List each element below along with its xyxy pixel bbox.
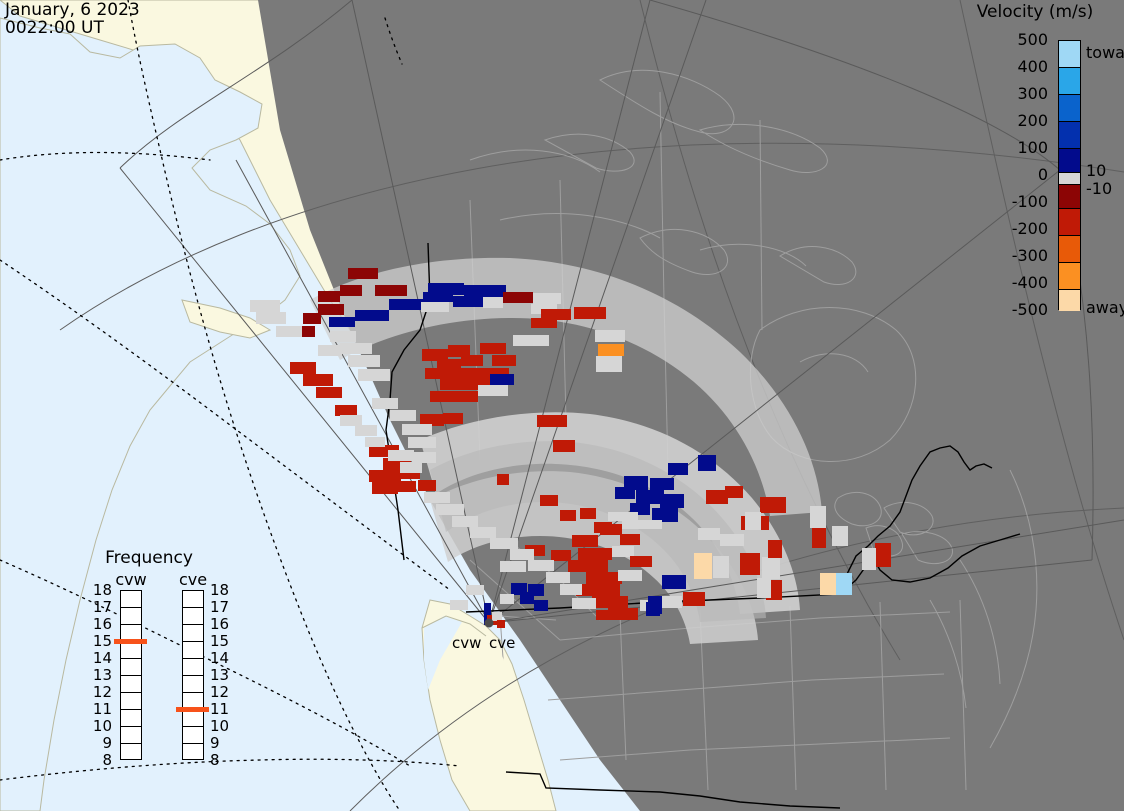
frequency-scale-cell bbox=[121, 727, 141, 744]
velocity-cell bbox=[762, 557, 780, 579]
velocity-cell bbox=[510, 549, 534, 560]
velocity-cell bbox=[365, 437, 385, 447]
velocity-cell bbox=[812, 528, 826, 548]
velocity-cell bbox=[745, 512, 761, 530]
velocity-cell bbox=[595, 330, 625, 342]
velocity-cell bbox=[560, 510, 576, 521]
velocity-cell bbox=[452, 516, 478, 527]
velocity-cell bbox=[650, 478, 674, 490]
velocity-cell bbox=[389, 299, 423, 310]
velocity-cell bbox=[396, 481, 416, 492]
frequency-tick-label: 12 bbox=[90, 685, 112, 700]
frequency-scale-cell bbox=[121, 744, 141, 761]
velocity-cell bbox=[250, 300, 280, 312]
velocity-cell bbox=[450, 600, 468, 610]
velocity-cell bbox=[592, 596, 628, 608]
velocity-cell bbox=[335, 405, 357, 416]
velocity-cell bbox=[608, 608, 638, 620]
velocity-cell bbox=[836, 573, 852, 595]
velocity-cell bbox=[490, 538, 518, 549]
velocity-cell bbox=[531, 318, 557, 328]
velocity-tick-label: -300 bbox=[1012, 248, 1048, 264]
velocity-cell bbox=[340, 415, 362, 426]
velocity-tick-label: -200 bbox=[1012, 221, 1048, 237]
frequency-scale-cell bbox=[121, 710, 141, 727]
velocity-colorbar-title: Velocity (m/s) bbox=[960, 2, 1110, 22]
velocity-cell bbox=[478, 385, 508, 396]
frequency-tick-label: 12 bbox=[210, 685, 232, 700]
velocity-cell bbox=[668, 463, 688, 475]
velocity-cell bbox=[546, 572, 570, 583]
velocity-cell bbox=[534, 600, 548, 611]
site-label-cve: cve bbox=[489, 634, 515, 652]
velocity-tick-label: 0 bbox=[1038, 167, 1048, 183]
frequency-tick-label: 10 bbox=[90, 719, 112, 734]
velocity-cell bbox=[698, 528, 720, 540]
velocity-cell bbox=[574, 307, 606, 319]
velocity-cell bbox=[256, 312, 286, 324]
velocity-cell bbox=[500, 561, 526, 572]
velocity-tick-label: 300 bbox=[1017, 86, 1048, 102]
velocity-colorbar bbox=[1058, 40, 1081, 310]
velocity-cell bbox=[348, 268, 378, 279]
frequency-tick-label: 11 bbox=[210, 702, 232, 717]
velocity-cell bbox=[553, 440, 575, 452]
velocity-colorbar-segment bbox=[1059, 41, 1080, 68]
velocity-tick-label: -100 bbox=[1012, 194, 1048, 210]
frequency-tick-label: 17 bbox=[210, 600, 232, 615]
velocity-cell bbox=[725, 486, 743, 498]
frequency-tick-label: 16 bbox=[210, 617, 232, 632]
velocity-cell bbox=[820, 573, 836, 595]
timestamp-time: 0022:00 UT bbox=[5, 19, 104, 37]
velocity-cell bbox=[340, 343, 372, 354]
frequency-scale-cell bbox=[183, 676, 203, 693]
frequency-scale-cell bbox=[121, 591, 141, 608]
frequency-tick-label: 16 bbox=[90, 617, 112, 632]
velocity-cell bbox=[620, 534, 640, 545]
frequency-scale-cell bbox=[183, 608, 203, 625]
velocity-colorbar-segment bbox=[1059, 185, 1080, 209]
velocity-cell bbox=[757, 578, 771, 598]
velocity-colorbar-segment bbox=[1059, 95, 1080, 122]
velocity-cell bbox=[421, 302, 449, 312]
velocity-cell bbox=[636, 490, 664, 504]
frequency-scale-cell bbox=[183, 591, 203, 608]
velocity-colorbar-segment bbox=[1059, 209, 1080, 236]
velocity-cell bbox=[596, 610, 610, 620]
velocity-cell bbox=[497, 620, 505, 628]
velocity-cell bbox=[464, 285, 506, 297]
velocity-cell bbox=[713, 556, 729, 578]
frequency-legend-title: Frequency bbox=[84, 548, 214, 568]
frequency-tick-label: 15 bbox=[90, 634, 112, 649]
velocity-cell bbox=[652, 508, 678, 522]
velocity-cell bbox=[466, 585, 484, 595]
velocity-cell bbox=[492, 612, 502, 621]
velocity-colorbar-segment bbox=[1059, 122, 1080, 149]
velocity-cell bbox=[303, 374, 333, 386]
velocity-cell bbox=[533, 293, 561, 304]
velocity-cell bbox=[551, 550, 571, 561]
frequency-column-header-cve: cve bbox=[173, 570, 213, 589]
frequency-scale-cell bbox=[121, 676, 141, 693]
frequency-scale-cell bbox=[183, 625, 203, 642]
velocity-tick-label: 400 bbox=[1017, 59, 1048, 75]
velocity-cell bbox=[660, 596, 682, 608]
frequency-scale-cell bbox=[121, 693, 141, 710]
frequency-scale-cell bbox=[183, 659, 203, 676]
velocity-cell bbox=[810, 506, 826, 528]
velocity-cell bbox=[596, 356, 622, 372]
velocity-cell bbox=[318, 304, 344, 315]
radar-site-marker bbox=[485, 619, 494, 628]
velocity-cell bbox=[329, 317, 355, 327]
velocity-cell bbox=[598, 344, 624, 356]
velocity-inner-positive-label: 10 bbox=[1086, 163, 1106, 179]
frequency-scale-cell bbox=[183, 710, 203, 727]
velocity-tick-label: -400 bbox=[1012, 275, 1048, 291]
velocity-cell bbox=[369, 470, 401, 482]
velocity-colorbar-segment bbox=[1059, 149, 1080, 173]
velocity-cell bbox=[290, 362, 316, 374]
velocity-cell bbox=[430, 391, 478, 402]
velocity-cell bbox=[608, 512, 638, 521]
velocity-cell bbox=[372, 398, 398, 409]
velocity-cell bbox=[276, 326, 302, 337]
velocity-cell bbox=[470, 527, 496, 538]
velocity-cell bbox=[500, 594, 514, 604]
velocity-cell bbox=[698, 455, 716, 471]
frequency-tick-label: 14 bbox=[210, 651, 232, 666]
velocity-cell bbox=[418, 480, 436, 491]
velocity-cell bbox=[580, 508, 596, 519]
frequency-scale-cell bbox=[121, 608, 141, 625]
velocity-cell bbox=[537, 415, 567, 427]
velocity-cell bbox=[612, 546, 634, 557]
site-label-cvw: cvw bbox=[452, 634, 481, 652]
velocity-tick-label: -500 bbox=[1012, 302, 1048, 318]
velocity-cell bbox=[513, 335, 549, 346]
velocity-cell bbox=[615, 487, 635, 499]
velocity-cell bbox=[436, 504, 464, 515]
velocity-away-label: away bbox=[1086, 300, 1124, 316]
velocity-cell bbox=[408, 437, 436, 448]
frequency-scale-cell bbox=[183, 642, 203, 659]
velocity-colorbar-segment bbox=[1059, 290, 1080, 311]
velocity-tick-label: 100 bbox=[1017, 140, 1048, 156]
velocity-colorbar-segment bbox=[1059, 236, 1080, 263]
velocity-cell bbox=[832, 526, 848, 546]
frequency-tick-label: 9 bbox=[90, 736, 112, 751]
velocity-cell bbox=[483, 297, 503, 308]
velocity-cell bbox=[528, 560, 554, 571]
velocity-colorbar-segment bbox=[1059, 173, 1080, 185]
velocity-cell bbox=[388, 450, 414, 461]
velocity-cell bbox=[572, 535, 598, 547]
velocity-cell bbox=[355, 310, 389, 321]
velocity-cell bbox=[372, 482, 398, 494]
frequency-tick-label: 18 bbox=[210, 583, 232, 598]
velocity-cell bbox=[503, 292, 533, 303]
velocity-cell bbox=[706, 490, 728, 504]
velocity-cell bbox=[425, 368, 469, 379]
frequency-tick-label: 18 bbox=[90, 583, 112, 598]
velocity-cell bbox=[461, 355, 483, 366]
velocity-cell bbox=[618, 570, 642, 581]
velocity-tick-label: 200 bbox=[1017, 113, 1048, 129]
velocity-cell bbox=[428, 283, 464, 295]
frequency-legend-panel: Frequency cvw18171615141312111098cve1817… bbox=[84, 548, 244, 798]
velocity-cell bbox=[630, 556, 652, 567]
velocity-cell bbox=[720, 534, 744, 546]
velocity-cell bbox=[646, 602, 660, 616]
frequency-tick-label: 9 bbox=[210, 736, 232, 751]
velocity-cell bbox=[497, 474, 509, 485]
velocity-cell bbox=[318, 291, 340, 302]
velocity-cell bbox=[303, 313, 321, 324]
velocity-cell bbox=[400, 462, 422, 473]
velocity-colorbar-segment bbox=[1059, 263, 1080, 290]
velocity-cell bbox=[622, 520, 662, 529]
velocity-cell bbox=[560, 584, 582, 595]
velocity-cell bbox=[875, 543, 891, 567]
velocity-cell bbox=[572, 598, 596, 609]
frequency-tick-label: 13 bbox=[210, 668, 232, 683]
velocity-cell bbox=[340, 285, 362, 296]
velocity-cell bbox=[740, 553, 760, 575]
velocity-cell bbox=[576, 584, 620, 596]
velocity-cell bbox=[540, 495, 558, 506]
velocity-cell bbox=[355, 425, 377, 436]
velocity-cell bbox=[490, 374, 514, 385]
velocity-cell bbox=[528, 584, 544, 596]
frequency-scale-cve bbox=[182, 590, 204, 760]
frequency-tick-label: 13 bbox=[90, 668, 112, 683]
frequency-tick-label: 8 bbox=[90, 753, 112, 768]
velocity-cell bbox=[375, 285, 407, 296]
velocity-cell bbox=[662, 575, 686, 589]
velocity-cell bbox=[424, 492, 450, 503]
frequency-tick-label: 10 bbox=[210, 719, 232, 734]
frequency-tick-label: 14 bbox=[90, 651, 112, 666]
frequency-scale-cvw bbox=[120, 590, 142, 760]
frequency-scale-cell bbox=[183, 727, 203, 744]
velocity-cell bbox=[568, 560, 608, 572]
frequency-marker-cvw bbox=[114, 639, 147, 644]
frequency-scale-cell bbox=[121, 659, 141, 676]
velocity-cell bbox=[316, 387, 342, 398]
frequency-tick-label: 11 bbox=[90, 702, 112, 717]
velocity-cell bbox=[358, 369, 390, 381]
frequency-column-header-cvw: cvw bbox=[111, 570, 151, 589]
velocity-cell bbox=[660, 494, 684, 508]
frequency-scale-cell bbox=[183, 744, 203, 761]
velocity-cell bbox=[402, 424, 432, 435]
velocity-cell bbox=[348, 355, 380, 367]
radar-map-figure: January, 6 2023 0022:00 UT Velocity (m/s… bbox=[0, 0, 1124, 811]
velocity-cell bbox=[578, 548, 612, 560]
velocity-cell bbox=[694, 553, 712, 579]
velocity-colorbar-panel: Velocity (m/s) 5004003002001000-100-200-… bbox=[960, 0, 1124, 340]
velocity-cell bbox=[412, 452, 436, 463]
frequency-marker-cve bbox=[176, 707, 209, 712]
frequency-tick-label: 17 bbox=[90, 600, 112, 615]
timestamp-date: January, 6 2023 bbox=[5, 1, 140, 19]
velocity-toward-label: toward bbox=[1086, 45, 1124, 61]
frequency-tick-label: 8 bbox=[210, 753, 232, 768]
frequency-tick-label: 15 bbox=[210, 634, 232, 649]
velocity-cell bbox=[330, 331, 356, 342]
velocity-inner-negative-label: -10 bbox=[1086, 181, 1112, 197]
velocity-cell bbox=[683, 592, 705, 606]
frequency-scale-cell bbox=[121, 642, 141, 659]
velocity-cell bbox=[318, 345, 342, 356]
velocity-cell bbox=[492, 355, 516, 366]
velocity-cell bbox=[862, 548, 876, 570]
velocity-cell bbox=[760, 497, 786, 513]
velocity-tick-label: 500 bbox=[1017, 32, 1048, 48]
velocity-cell bbox=[586, 572, 622, 584]
velocity-cell bbox=[453, 296, 483, 307]
velocity-cell bbox=[443, 413, 463, 424]
velocity-colorbar-segment bbox=[1059, 68, 1080, 95]
velocity-cell bbox=[480, 343, 506, 354]
velocity-cell bbox=[768, 540, 782, 558]
velocity-cell bbox=[390, 410, 416, 421]
velocity-cell bbox=[600, 524, 622, 535]
